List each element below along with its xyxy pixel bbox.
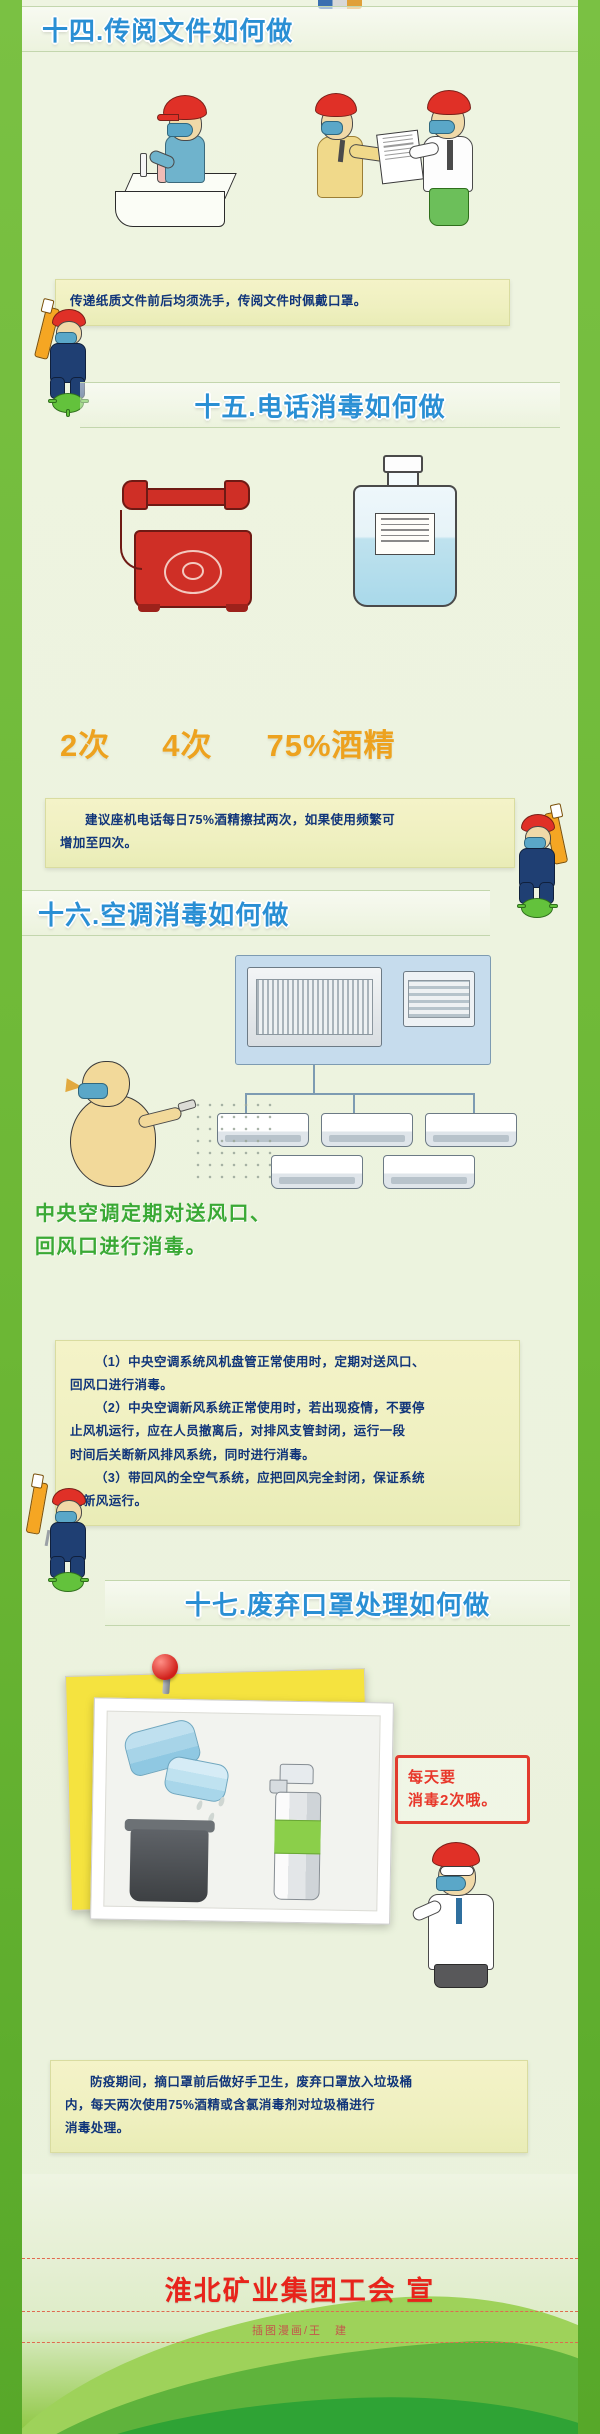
worker-yellow-helmet bbox=[315, 93, 357, 117]
duck-mask-icon bbox=[78, 1083, 108, 1099]
section-heading-17: 十七.废弃口罩处理如何做 bbox=[105, 1580, 570, 1626]
note-16-line-4: 止风机运行，应在人员撤离后，对排风支管封闭，运行一段 bbox=[70, 1420, 505, 1443]
photo-card-front bbox=[90, 1697, 394, 1924]
section-17-title: 十七.废弃口罩处理如何做 bbox=[185, 1585, 490, 1622]
ac-indoor-unit-5 bbox=[383, 1155, 475, 1189]
illustration-document-handover bbox=[305, 88, 495, 248]
footer-divider-top bbox=[22, 2258, 578, 2259]
note-15-line-2: 增加至四次。 bbox=[60, 832, 500, 855]
mascot-syringe-worker-3 bbox=[24, 1480, 116, 1595]
note-16-line-7: 全新风运行。 bbox=[70, 1490, 505, 1513]
virus-icon-2 bbox=[521, 898, 553, 918]
highlight-alcohol-percent: 75%酒精 bbox=[267, 720, 396, 765]
basin-body-icon bbox=[115, 191, 225, 227]
ac-vent-2 bbox=[329, 1135, 405, 1142]
illustration-doctor bbox=[410, 1840, 540, 1990]
duck-body-icon bbox=[70, 1095, 156, 1187]
faucet-icon bbox=[140, 153, 147, 177]
note-17-line-3: 消毒处理。 bbox=[65, 2117, 513, 2140]
note-15: 建议座机电话每日75%酒精擦拭两次，如果使用频繁可 增加至四次。 bbox=[45, 798, 515, 868]
ac-controller-grill bbox=[408, 980, 470, 1019]
worker-helmet-brim bbox=[157, 114, 179, 121]
ac-indoor-unit-3 bbox=[425, 1113, 517, 1147]
ac-controller-icon bbox=[403, 971, 475, 1027]
note-17-line-1: 防疫期间，摘口罩前后做好手卫生，废弃口罩放入垃圾桶 bbox=[65, 2071, 513, 2094]
section-heading-15: 十五.电话消毒如何做 bbox=[80, 382, 560, 428]
ac-outdoor-grill bbox=[256, 979, 373, 1035]
illustration-credit: 插图漫画/王 建 bbox=[22, 2322, 578, 2338]
virus-spike bbox=[549, 904, 558, 908]
right-green-rail bbox=[578, 0, 600, 2434]
syringe-icon-3 bbox=[26, 1481, 49, 1535]
virus-spike bbox=[48, 399, 57, 403]
footer-divider-bottom bbox=[22, 2342, 578, 2343]
poster-footer: 淮北矿业集团工会 宣 插图漫画/王 建 bbox=[22, 2174, 578, 2434]
note-16-line-3: （2）中央空调新风系统正常使用时，若出现疫情，不要停 bbox=[70, 1397, 505, 1420]
telephone-foot-right bbox=[226, 604, 248, 612]
telephone-foot-left bbox=[138, 604, 160, 612]
telephone-dial-center bbox=[182, 562, 204, 580]
footer-divider-middle bbox=[22, 2311, 578, 2312]
organization-name: 淮北矿业集团工会 宣 bbox=[22, 2269, 578, 2308]
virus-spike bbox=[66, 409, 70, 417]
ac-drop-line-2 bbox=[353, 1093, 355, 1115]
telephone-cord-icon bbox=[120, 510, 142, 570]
infographic-poster: 十四.传阅文件如何做 bbox=[0, 0, 600, 2434]
doctor-tie bbox=[456, 1898, 462, 1924]
worker-white-mask bbox=[429, 120, 455, 134]
handwriting-16-line-2: 回风口进行消毒。 bbox=[35, 1231, 272, 1264]
callout-17-line-1: 每天要 bbox=[408, 1766, 517, 1789]
trash-can-icon bbox=[129, 1829, 208, 1902]
section-16-title: 十六.空调消毒如何做 bbox=[38, 895, 289, 932]
illustration-alcohol-bottle bbox=[345, 455, 475, 655]
worker-white-helmet bbox=[427, 90, 471, 115]
note-14-line-1: 传递纸质文件前后均须洗手，传阅文件时佩戴口罩。 bbox=[70, 290, 495, 313]
illustration-telephone bbox=[120, 470, 280, 660]
note-16-line-6: （3）带回风的全空气系统，应把回风完全封闭，保证系统 bbox=[70, 1467, 505, 1490]
callout-17: 每天要 消毒2次哦。 bbox=[395, 1755, 530, 1824]
ac-connector-line-vertical bbox=[313, 1065, 315, 1095]
ac-vent-3 bbox=[433, 1135, 509, 1142]
section-heading-14: 十四.传阅文件如何做 bbox=[22, 6, 578, 52]
note-17: 防疫期间，摘口罩前后做好手卫生，废弃口罩放入垃圾桶 内，每天两次使用75%酒精或… bbox=[50, 2060, 528, 2153]
doctor-glasses-icon bbox=[440, 1866, 474, 1876]
worker-mask bbox=[167, 123, 193, 137]
left-green-rail bbox=[0, 0, 22, 2434]
telephone-earpiece-left bbox=[122, 480, 148, 510]
virus-spike bbox=[517, 904, 526, 908]
callout-17-line-2: 消毒2次哦。 bbox=[408, 1789, 517, 1812]
note-16-line-5: 时间后关断新风排风系统，同时进行消毒。 bbox=[70, 1444, 505, 1467]
virus-spike bbox=[48, 1578, 57, 1582]
doctor-pants bbox=[434, 1964, 488, 1988]
worker-white-tie bbox=[447, 140, 453, 170]
doctor-helmet bbox=[432, 1842, 480, 1868]
doctor-mask bbox=[436, 1876, 466, 1891]
note-16-line-2: 回风口进行消毒。 bbox=[70, 1374, 505, 1397]
note-15-line-1: 建议座机电话每日75%酒精擦拭两次，如果使用频繁可 bbox=[60, 809, 500, 832]
bottle-label-icon bbox=[375, 513, 435, 555]
handwriting-16: 中央空调定期对送风口、 回风口进行消毒。 bbox=[35, 1198, 272, 1264]
spray-mist-icon bbox=[192, 1099, 272, 1187]
highlight-4-times: 4次 bbox=[162, 720, 212, 765]
note-16: （1）中央空调系统风机盘管正常使用时，定期对送风口、 回风口进行消毒。 （2）中… bbox=[55, 1340, 520, 1526]
worker-yellow-mask bbox=[321, 121, 343, 135]
worker-green-pants bbox=[429, 188, 469, 226]
virus-spike bbox=[80, 1578, 89, 1582]
ac-indoor-unit-2 bbox=[321, 1113, 413, 1147]
note-14: 传递纸质文件前后均须洗手，传阅文件时佩戴口罩。 bbox=[55, 279, 510, 326]
section-15-title: 十五.电话消毒如何做 bbox=[194, 387, 445, 424]
ac-vent-4 bbox=[279, 1177, 355, 1184]
spray-bottle-label bbox=[274, 1820, 321, 1855]
section-14-title: 十四.传阅文件如何做 bbox=[42, 11, 293, 48]
note-16-line-1: （1）中央空调系统风机盘管正常使用时，定期对送风口、 bbox=[70, 1351, 505, 1374]
section-heading-16: 十六.空调消毒如何做 bbox=[22, 890, 490, 936]
illustration-duck-sprayer bbox=[60, 1055, 290, 1205]
virus-icon-3 bbox=[52, 1572, 84, 1592]
ac-vent-5 bbox=[391, 1177, 467, 1184]
ac-outdoor-unit-icon bbox=[247, 967, 382, 1047]
telephone-earpiece-right bbox=[224, 480, 250, 510]
pushpin-icon bbox=[152, 1654, 178, 1680]
ac-drop-line-3 bbox=[473, 1093, 475, 1115]
note-17-line-2: 内，每天两次使用75%酒精或含氯消毒剂对垃圾桶进行 bbox=[65, 2094, 513, 2117]
highlight-row-15: 2次 4次 75%酒精 bbox=[60, 720, 396, 765]
illustration-handwashing bbox=[105, 95, 255, 240]
handwriting-16-line-1: 中央空调定期对送风口、 bbox=[35, 1198, 272, 1231]
highlight-2-times: 2次 bbox=[60, 720, 110, 765]
